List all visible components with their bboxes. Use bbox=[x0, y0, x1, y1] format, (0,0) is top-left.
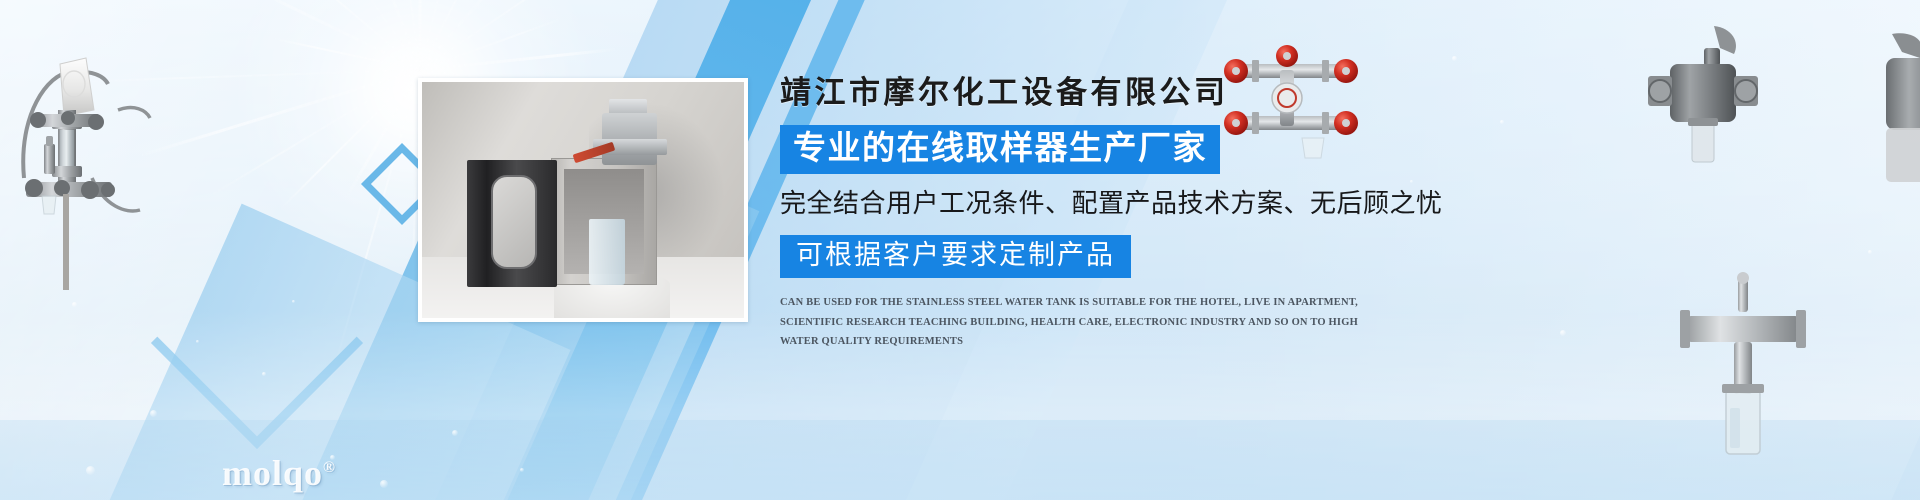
right-top-valve-body bbox=[1640, 22, 1760, 172]
far-right-valve-icon bbox=[1886, 28, 1920, 208]
water-droplet bbox=[452, 430, 458, 436]
watermark-text: molqo bbox=[222, 453, 323, 493]
cta-highlight: 可根据客户要求定制产品 bbox=[780, 235, 1131, 278]
subline: 完全结合用户工况条件、配置产品技术方案、无后顾之忧 bbox=[780, 188, 1400, 219]
water-droplet bbox=[520, 468, 524, 472]
water-droplet bbox=[1560, 330, 1566, 336]
cross-valve-icon bbox=[1218, 42, 1378, 172]
valve-body-icon bbox=[1640, 22, 1770, 182]
water-droplet bbox=[72, 302, 77, 307]
english-paragraph: CAN BE USED FOR THE STAINLESS STEEL WATE… bbox=[780, 293, 1385, 351]
photo-cabinet-door bbox=[467, 160, 557, 287]
water-droplet bbox=[196, 340, 199, 343]
headline-highlight: 专业的在线取样器生产厂家 bbox=[780, 125, 1220, 174]
product-photo bbox=[418, 78, 748, 322]
photo-door-window bbox=[491, 175, 538, 269]
water-droplet bbox=[1868, 250, 1872, 254]
water-droplet bbox=[86, 466, 95, 475]
water-droplet bbox=[1452, 56, 1457, 61]
left-equipment-illustration bbox=[8, 18, 218, 298]
watermark-registered-mark: ® bbox=[323, 459, 336, 476]
right-bottom-valve-assembly bbox=[1672, 272, 1812, 462]
promo-banner: 靖江市摩尔化工设备有限公司 专业的在线取样器生产厂家 完全结合用户工况条件、配置… bbox=[0, 0, 1920, 500]
photo-sample-bottle bbox=[589, 219, 624, 285]
product-photo-image bbox=[422, 82, 744, 318]
left-equipment-icon bbox=[8, 18, 218, 298]
sample-valve-icon bbox=[1672, 272, 1822, 472]
water-droplet bbox=[1500, 120, 1504, 124]
right-cross-valve-assembly bbox=[1218, 42, 1368, 160]
water-droplet bbox=[292, 300, 295, 303]
far-right-valve bbox=[1886, 28, 1920, 213]
water-droplet bbox=[380, 480, 388, 488]
water-droplet bbox=[1410, 180, 1413, 183]
watermark-logo: molqo® bbox=[222, 452, 336, 494]
water-droplet bbox=[150, 410, 157, 417]
water-droplet bbox=[262, 372, 266, 376]
